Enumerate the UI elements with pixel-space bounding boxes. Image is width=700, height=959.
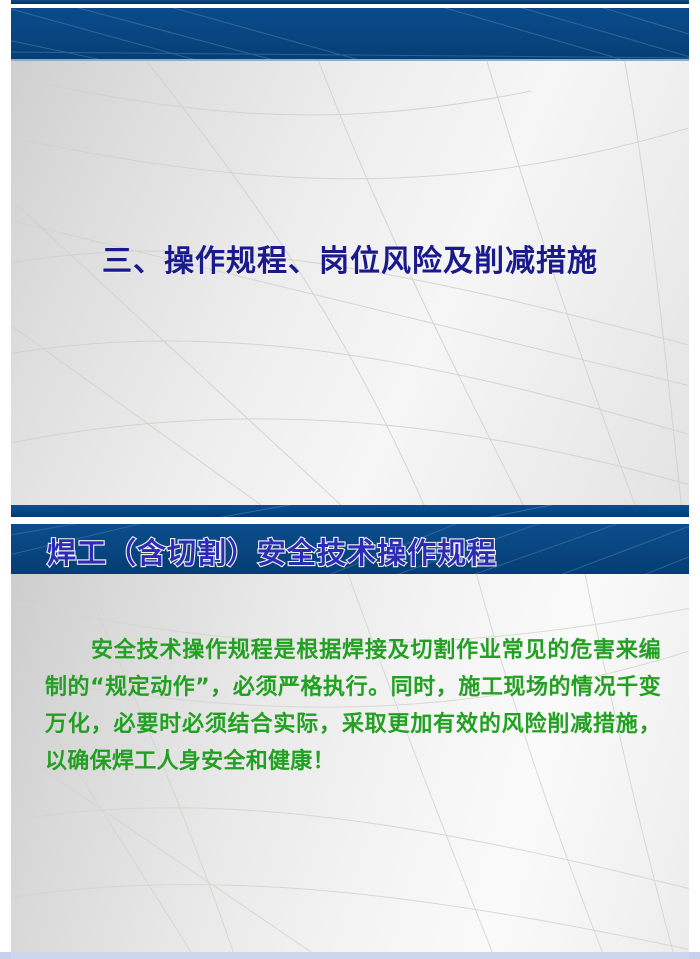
slide-content-welding-rules[interactable]: 焊工（含切割）安全技术操作规程 安全技术操作规程是根据焊接及切割作业常见的危害来 — [11, 524, 689, 952]
slide2-body-paragraph: 安全技术操作规程是根据焊接及切割作业常见的危害来编制的“规定动作”，必须严格执行… — [45, 632, 661, 780]
slide-viewer[interactable]: 三、操作规程、岗位风险及削减措施 — [0, 0, 700, 959]
viewer-bottom-strip — [0, 952, 700, 959]
slide2-header-bar: 焊工（含切割）安全技术操作规程 — [11, 524, 689, 574]
slide1-body: 三、操作规程、岗位风险及削减措施 — [11, 61, 689, 505]
slide1-top-banner — [11, 8, 689, 61]
footer-line-texture — [11, 505, 689, 517]
background-line-texture — [11, 61, 689, 505]
slide-section-title[interactable]: 三、操作规程、岗位风险及削减措施 — [11, 8, 689, 517]
banner-line-texture — [11, 8, 689, 61]
slide2-title: 焊工（含切割）安全技术操作规程 — [47, 530, 497, 572]
viewer-bottom-strip-inner — [11, 952, 689, 959]
slide2-body: 安全技术操作规程是根据焊接及切割作业常见的危害来编制的“规定动作”，必须严格执行… — [11, 574, 689, 952]
previous-slide-sliver[interactable] — [11, 0, 689, 4]
slide1-section-title: 三、操作规程、岗位风险及削减措施 — [11, 236, 689, 280]
slide1-bottom-bar — [11, 505, 689, 517]
